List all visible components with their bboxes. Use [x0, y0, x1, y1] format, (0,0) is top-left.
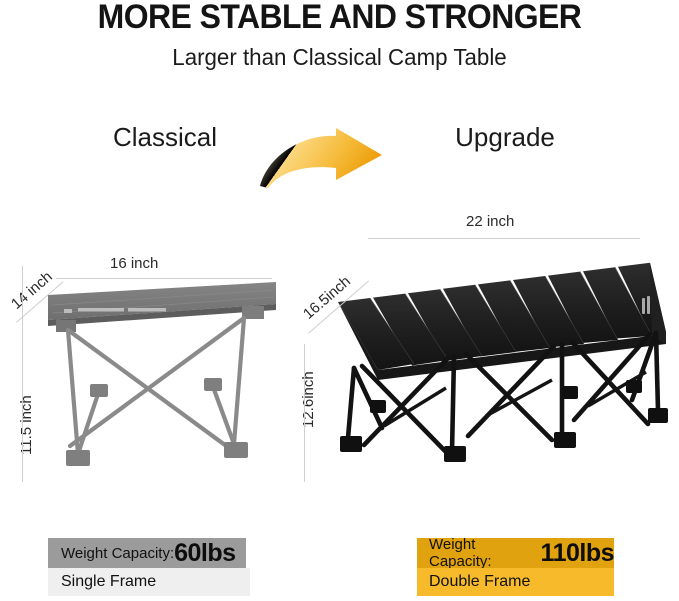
page-title: MORE STABLE AND STRONGER: [20, 0, 658, 37]
dimension-guide-height-left: [22, 266, 23, 482]
frame-label-left: Single Frame: [61, 573, 156, 591]
dimension-height-right: 12.6inch: [300, 371, 317, 428]
folding-camp-table-black: [326, 240, 674, 490]
dimension-width-left: 16 inch: [110, 255, 158, 272]
frame-label-right: Double Frame: [429, 573, 530, 591]
dimension-width-right: 22 inch: [466, 213, 514, 230]
folding-camp-table-gray: [12, 258, 292, 484]
capacity-label-left: Weight Capacity:: [61, 545, 174, 562]
capacity-bar-left: Weight Capacity: 60lbs: [48, 538, 246, 568]
page-subtitle: Larger than Classical Camp Table: [10, 44, 669, 71]
capacity-value-right: 110lbs: [541, 539, 614, 568]
dimension-height-left: 11.5 inch: [18, 395, 35, 455]
frame-bar-right: Double Frame: [417, 568, 614, 596]
dimension-guide-height-right: [304, 344, 305, 482]
column-label-upgrade: Upgrade: [400, 122, 610, 153]
capacity-value-left: 60lbs: [174, 539, 235, 568]
frame-bar-left: Single Frame: [48, 568, 250, 596]
capacity-bar-right: Weight Capacity: 110lbs: [417, 538, 614, 568]
column-label-classical: Classical: [60, 122, 270, 153]
dimension-guide-width-right: [368, 238, 640, 239]
capacity-label-right: Weight Capacity:: [429, 536, 541, 570]
curved-arrow-right-icon: [258, 128, 384, 190]
dimension-guide-width-left: [56, 278, 272, 279]
infographic-canvas: MORE STABLE AND STRONGER Larger than Cla…: [0, 0, 679, 601]
